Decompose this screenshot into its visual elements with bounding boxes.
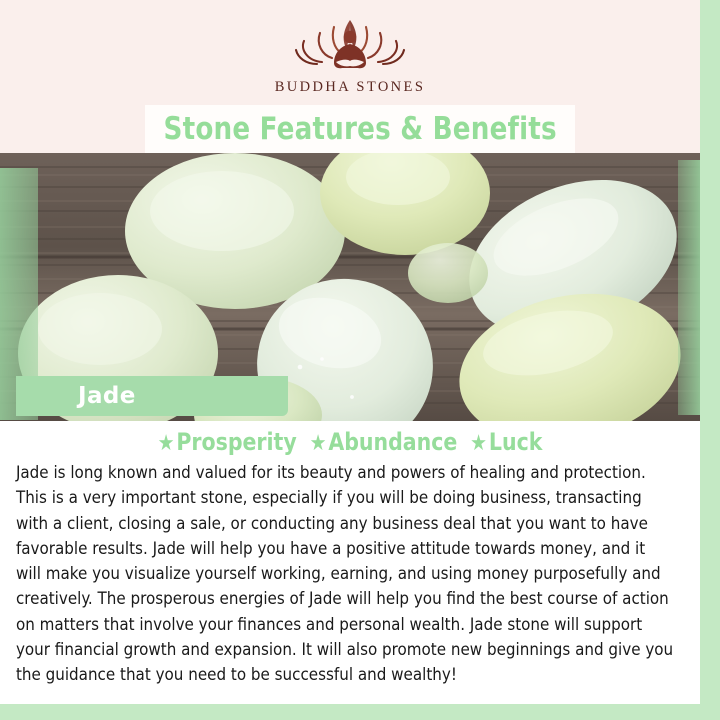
content-sheet: BUDDHA STONES (0, 0, 700, 704)
brand-header: BUDDHA STONES (0, 0, 700, 108)
keyword-item-0: ★Prosperity (158, 428, 297, 456)
photo-right-accent (678, 160, 700, 415)
lotus-meditation-icon (284, 14, 416, 76)
star-icon: ★ (158, 431, 175, 456)
stone-name-bar: Jade (16, 376, 288, 416)
keyword-item-1: ★Abundance (310, 428, 458, 456)
infographic-page: BUDDHA STONES (0, 0, 720, 720)
description-card: ★Prosperity ★Abundance ★Luck Jade is lon… (0, 421, 700, 704)
keyword-item-2: ★Luck (470, 428, 542, 456)
page-title: Stone Features & Benefits (163, 111, 556, 147)
stone-name: Jade (78, 383, 136, 409)
description-text: Jade is long known and valued for its be… (12, 461, 678, 689)
keyword-label-2: Luck (489, 428, 542, 456)
star-icon: ★ (310, 431, 327, 456)
page-title-banner: Stone Features & Benefits (145, 105, 575, 153)
keyword-list: ★Prosperity ★Abundance ★Luck (29, 428, 671, 456)
brand-name: BUDDHA STONES (275, 79, 426, 96)
keyword-label-1: Abundance (328, 428, 457, 456)
keyword-label-0: Prosperity (176, 428, 296, 456)
star-icon: ★ (470, 431, 487, 456)
